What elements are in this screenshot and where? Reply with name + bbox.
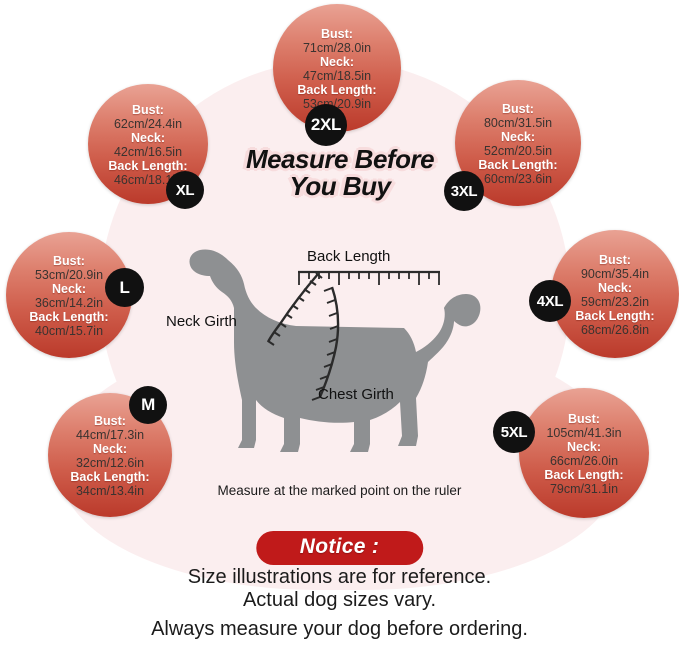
back-length-value: 68cm/26.8in [575,323,654,337]
neck-label: Neck: [297,55,376,69]
page-title-line2: You Buy [232,173,448,200]
disclaimer-line-1: Size illustrations are for reference. [0,566,679,589]
neck-label: Neck: [575,281,654,295]
size-badge-m: M [129,386,167,424]
back-length-label: Back Length: [575,309,654,323]
page-title-line1: Measure Before [232,146,448,173]
neck-value: 47cm/18.5in [297,69,376,83]
bust-label: Bust: [575,253,654,267]
neck-value: 42cm/16.5in [108,145,187,159]
neck-label: Neck: [108,131,187,145]
size-badge-label: L [119,278,129,298]
chest-girth-caption: Chest Girth [318,386,394,403]
back-length-label: Back Length: [478,158,557,172]
neck-label: Neck: [478,130,557,144]
bust-label: Bust: [544,412,623,426]
back-length-caption: Back Length [307,248,390,265]
notice-badge: Notice : [256,531,423,565]
size-badge-label: XL [176,182,195,199]
neck-label: Neck: [70,442,149,456]
bust-label: Bust: [108,103,187,117]
size-badge-l: L [105,268,144,307]
neck-value: 66cm/26.0in [544,454,623,468]
back-length-label: Back Length: [70,470,149,484]
back-length-label: Back Length: [108,159,187,173]
size-badge-label: 4XL [537,293,564,310]
bust-value: 90cm/35.4in [575,267,654,281]
disclaimer-line-3: Always measure your dog before ordering. [0,617,679,642]
disclaimer-block: Size illustrations are for reference. Ac… [0,566,679,642]
size-bubble-5xl: Bust: 105cm/41.3in Neck: 66cm/26.0in Bac… [519,388,649,518]
ruler-footnote: Measure at the marked point on the ruler [0,483,679,498]
back-length-label: Back Length: [29,310,108,324]
size-badge-5xl: 5XL [493,411,535,453]
bust-label: Bust: [29,254,108,268]
back-length-ruler-icon [296,268,442,290]
neck-value: 32cm/12.6in [70,456,149,470]
size-badge-label: 5XL [501,424,528,441]
size-badge-xl: XL [166,171,204,209]
neck-girth-caption: Neck Girth [166,313,237,330]
neck-label: Neck: [29,282,108,296]
size-badge-label: 3XL [451,183,478,200]
bust-label: Bust: [478,102,557,116]
size-badge-label: M [141,395,155,415]
bust-label: Bust: [297,27,376,41]
disclaimer-line-2: Actual dog sizes vary. [0,589,679,612]
neck-label: Neck: [544,440,623,454]
bust-value: 62cm/24.4in [108,117,187,131]
neck-value: 52cm/20.5in [478,144,557,158]
bust-value: 53cm/20.9in [29,268,108,282]
size-badge-label: 2XL [311,115,341,135]
bust-value: 105cm/41.3in [544,426,623,440]
neck-value: 59cm/23.2in [575,295,654,309]
size-bubble-4xl: Bust: 90cm/35.4in Neck: 59cm/23.2in Back… [551,230,679,358]
size-badge-4xl: 4XL [529,280,571,322]
back-length-label: Back Length: [297,83,376,97]
size-chart-infographic: Bust: 71cm/28.0in Neck: 47cm/18.5in Back… [0,0,679,647]
bust-value: 71cm/28.0in [297,41,376,55]
size-badge-3xl: 3XL [444,171,484,211]
back-length-value: 40cm/15.7in [29,324,108,338]
back-length-label: Back Length: [544,468,623,482]
size-badge-2xl: 2XL [305,104,347,146]
neck-value: 36cm/14.2in [29,296,108,310]
page-title: Measure Before You Buy [232,146,448,200]
bust-value: 44cm/17.3in [70,428,149,442]
back-length-value: 60cm/23.6in [478,172,557,186]
bust-value: 80cm/31.5in [478,116,557,130]
